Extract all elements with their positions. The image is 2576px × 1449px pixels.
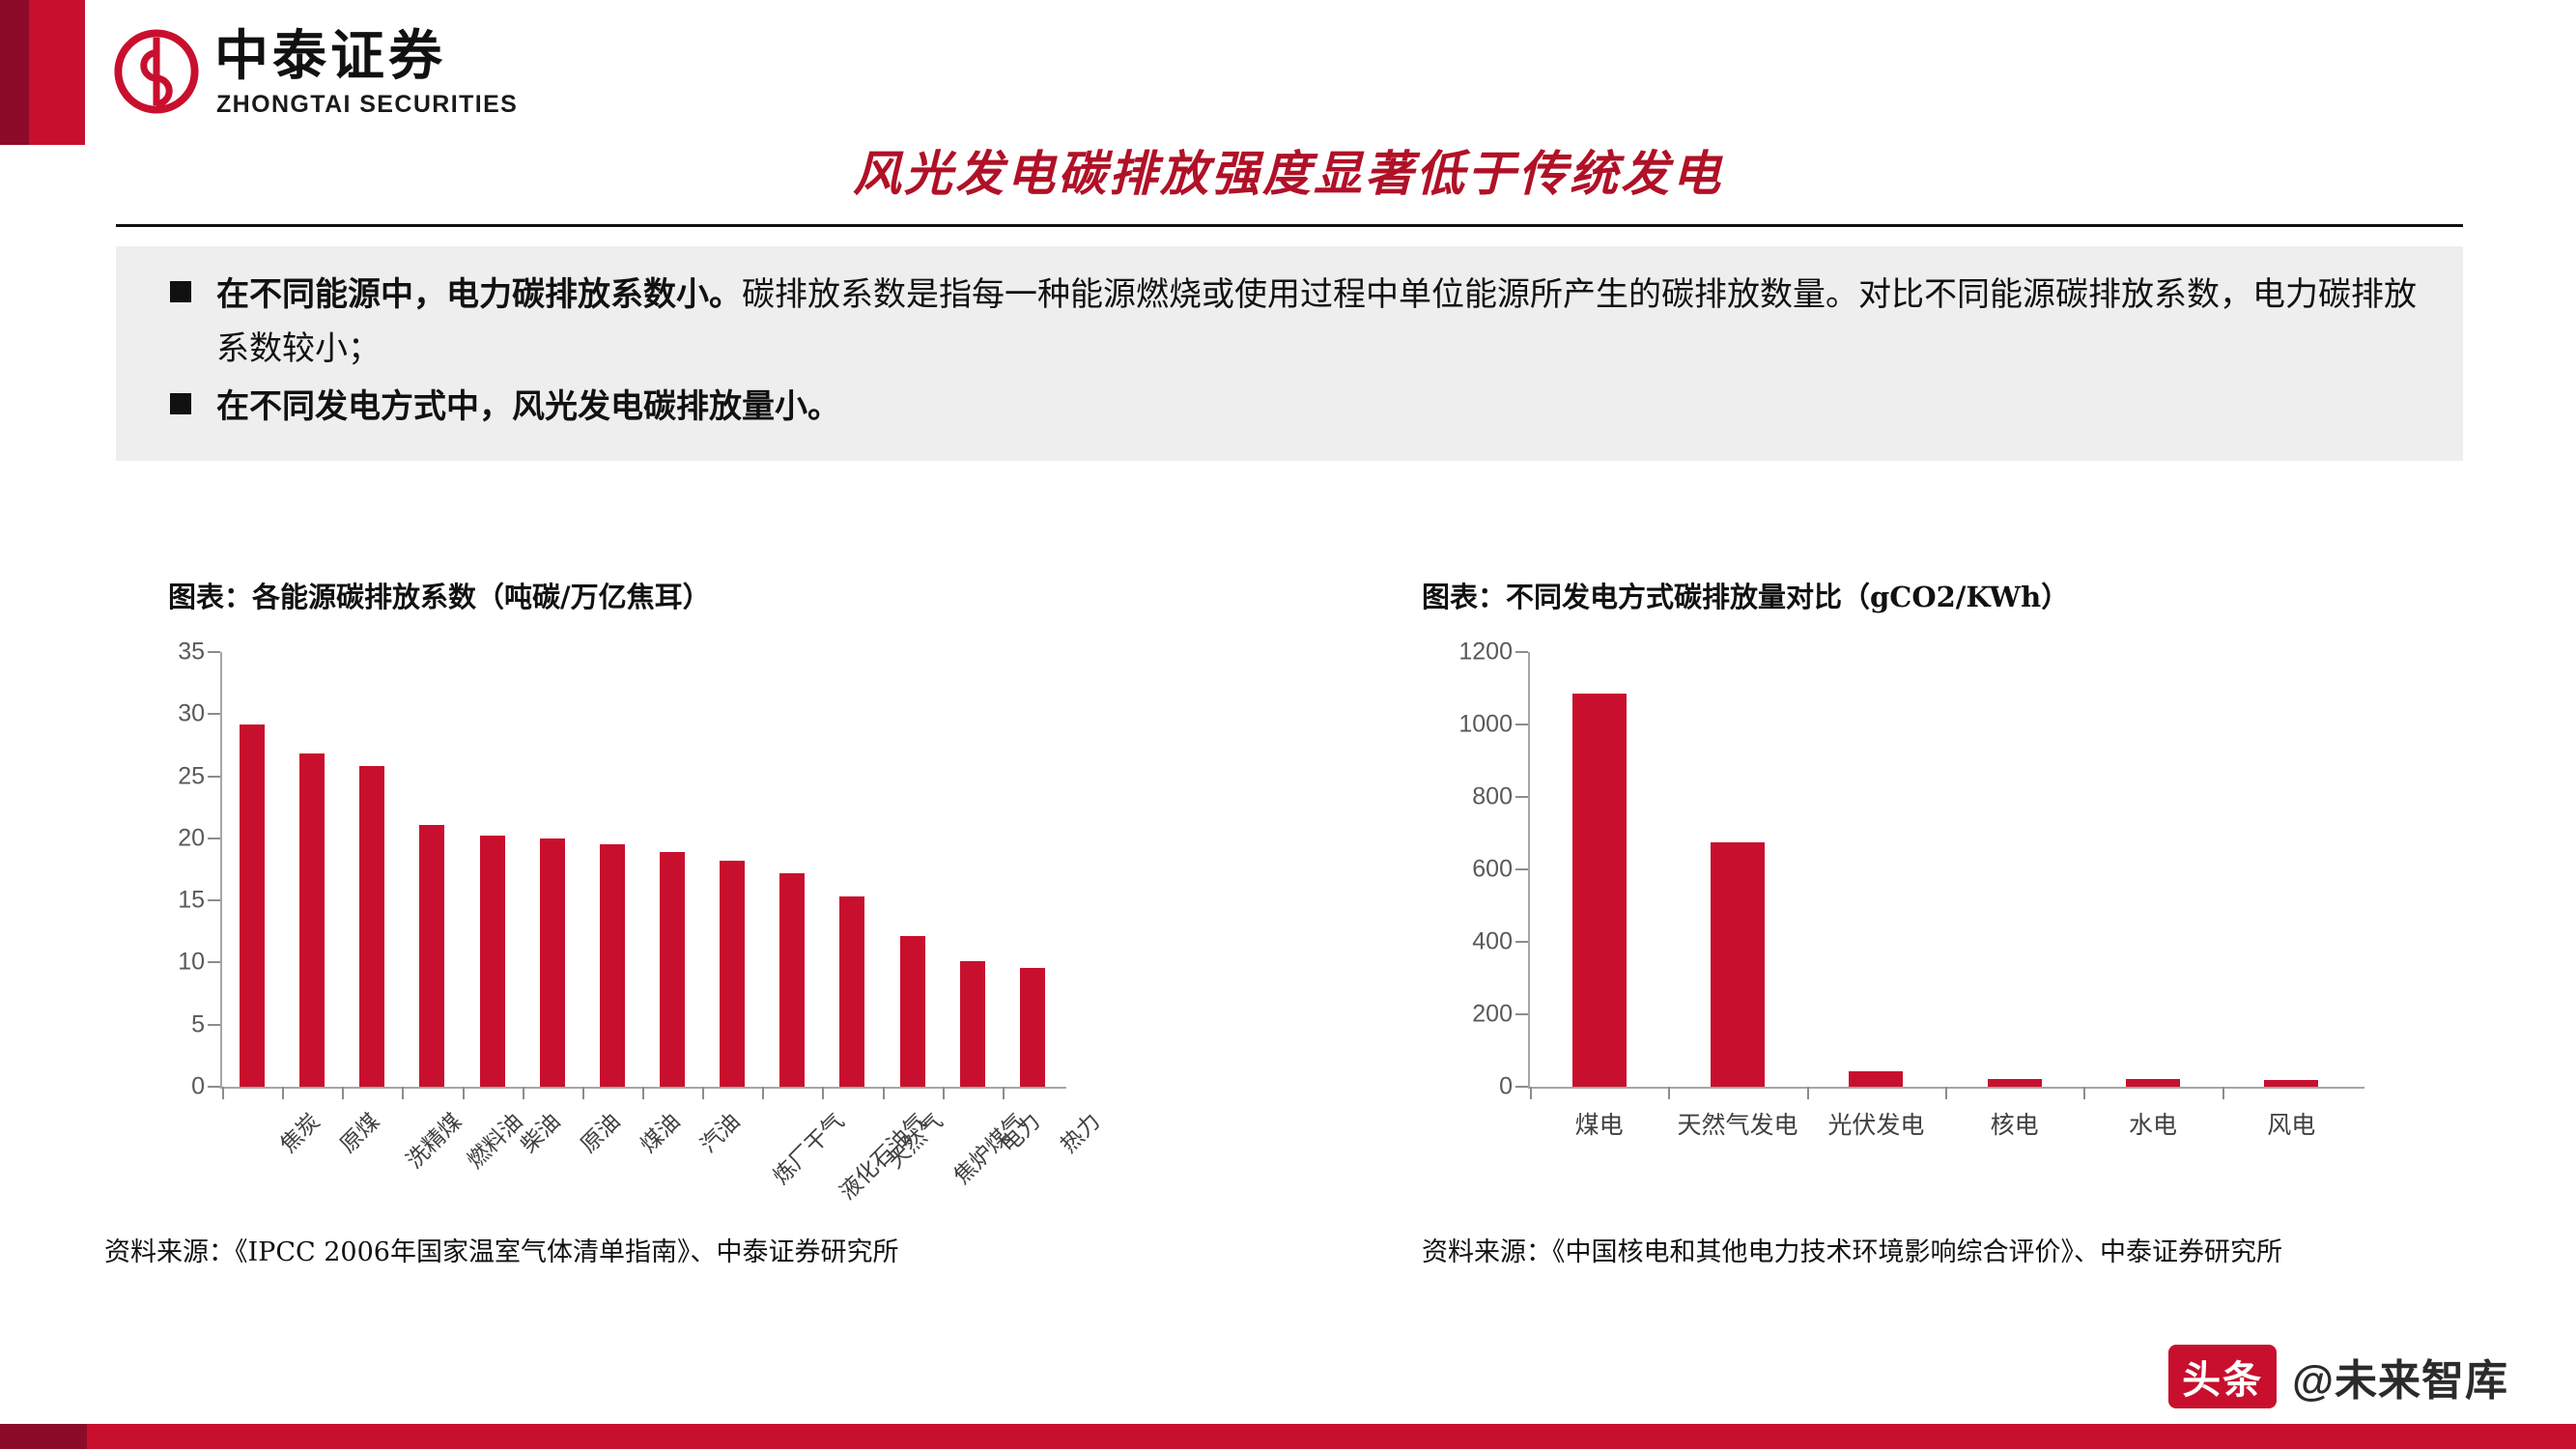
x-tick-mark [2083, 1087, 2085, 1099]
bar [1849, 1071, 1903, 1087]
x-tick-mark [1530, 1087, 1532, 1099]
y-tick-label: 30 [178, 700, 205, 728]
bar [240, 724, 265, 1087]
x-tick-label: 水电 [2083, 1106, 2222, 1154]
y-tick-mark [208, 713, 220, 715]
bar-slot [943, 652, 1003, 1087]
x-labels: 焦炭原煤洗精煤燃料油柴油原油煤油汽油炼厂干气液化石油气天然气焦炉煤气电力热力 [222, 1100, 1062, 1207]
x-tick-mark [642, 1087, 644, 1099]
x-tick-label: 柴油 [511, 1104, 566, 1159]
y-tick-mark [1515, 941, 1528, 943]
bar-slot [342, 652, 402, 1087]
chart-source: 资料来源：《IPCC 2006年国家温室气体清单指南》、中泰证券研究所 [104, 1231, 898, 1268]
y-tick-mark [1515, 1013, 1528, 1015]
x-tick-label: 光伏发电 [1807, 1106, 1945, 1154]
bar-slot [402, 652, 462, 1087]
plot-area: 020040060080010001200煤电天然气发电光伏发电核电水电风电 [1422, 652, 2576, 1193]
x-tick-mark [582, 1087, 584, 1099]
x-tick-label: 原煤 [331, 1104, 386, 1159]
company-logo: 中泰证券 ZHONGTAI SECURITIES [114, 17, 520, 124]
x-tick-mark [943, 1087, 945, 1099]
x-tick-mark [1003, 1087, 1005, 1099]
y-tick-label: 0 [191, 1073, 205, 1101]
x-tick-mark [342, 1087, 344, 1099]
y-tick-mark [208, 838, 220, 839]
y-tick-label: 1000 [1458, 711, 1513, 739]
bullet-item: 在不同能源中，电力碳排放系数小。碳排放系数是指每一种能源燃烧或使用过程中单位能源… [149, 268, 2430, 376]
bar [960, 961, 985, 1087]
footer-accent [0, 1424, 87, 1449]
bar [359, 766, 384, 1087]
x-tick-label: 汽油 [692, 1104, 747, 1159]
x-tick-label: 核电 [1945, 1106, 2083, 1154]
y-tick-mark [1515, 868, 1528, 870]
header-accent-bar-red [29, 0, 85, 145]
bar [419, 825, 444, 1087]
bullet-text: 在不同能源中，电力碳排放系数小。碳排放系数是指每一种能源燃烧或使用过程中单位能源… [216, 268, 2430, 376]
bar-slot [822, 652, 882, 1087]
chart-source: 资料来源：《中国核电和其他电力技术环境影响综合评价》、中泰证券研究所 [1422, 1231, 2282, 1268]
bullet-item: 在不同发电方式中，风光发电碳排放量小。 [149, 380, 2430, 434]
y-tick-label: 10 [178, 949, 205, 977]
y-tick-label: 15 [178, 887, 205, 915]
x-tick-mark [883, 1087, 885, 1099]
summary-panel: 在不同能源中，电力碳排放系数小。碳排放系数是指每一种能源燃烧或使用过程中单位能源… [116, 246, 2463, 461]
watermark-badge: 头条 [2168, 1345, 2277, 1408]
x-tick-label: 热力 [1051, 1104, 1106, 1159]
y-tick-mark [208, 1086, 220, 1088]
bar-slot [1807, 652, 1945, 1087]
y-tick-label: 1200 [1458, 639, 1513, 667]
bars-container [1530, 652, 2361, 1087]
page-title: 风光发电碳排放强度显著低于传统发电 [0, 135, 2576, 205]
y-axis: 020040060080010001200 [1422, 652, 1528, 1087]
y-tick-label: 20 [178, 824, 205, 852]
y-tick-mark [208, 899, 220, 901]
bar-slot [523, 652, 582, 1087]
bar [779, 873, 805, 1087]
y-tick-mark [1515, 651, 1528, 653]
x-tick-mark [702, 1087, 704, 1099]
x-labels: 煤电天然气发电光伏发电核电水电风电 [1530, 1106, 2361, 1154]
y-tick-mark [1515, 724, 1528, 725]
bar-slot [1668, 652, 1806, 1087]
chart-panel-energy-factor: 图表：各能源碳排放系数（吨碳/万亿焦耳） 05101520253035焦炭原煤洗… [114, 575, 1283, 1251]
zhongtai-logo-icon [114, 29, 199, 114]
x-tick-label: 洗精煤 [398, 1104, 468, 1175]
x-tick-label: 煤电 [1530, 1106, 1668, 1154]
x-tick-mark [2222, 1087, 2224, 1099]
logo-text-chinese: 中泰证券 [214, 25, 446, 87]
bar [660, 852, 685, 1087]
y-tick-mark [1515, 1086, 1528, 1088]
y-tick-label: 25 [178, 762, 205, 790]
bar [1572, 694, 1627, 1087]
y-tick-mark [208, 776, 220, 778]
y-tick-label: 200 [1472, 1001, 1513, 1029]
x-tick-mark [1807, 1087, 1809, 1099]
y-tick-label: 400 [1472, 928, 1513, 956]
bar-slot [2222, 652, 2361, 1087]
bullet-square-icon [170, 281, 191, 302]
y-tick-label: 0 [1499, 1073, 1513, 1101]
y-tick-mark [208, 961, 220, 963]
bullet-text: 在不同发电方式中，风光发电碳排放量小。 [216, 380, 2430, 434]
y-tick-mark [1515, 796, 1528, 798]
watermark: 头条 @未来智库 [2168, 1345, 2508, 1408]
bar [299, 753, 325, 1087]
bar-slot [1530, 652, 1668, 1087]
bar-slot [762, 652, 822, 1087]
plot-area: 05101520253035焦炭原煤洗精煤燃料油柴油原油煤油汽油炼厂干气液化石油… [114, 652, 1283, 1193]
bullet-square-icon [170, 393, 191, 414]
y-tick-label: 600 [1472, 856, 1513, 884]
bar [2126, 1079, 2180, 1087]
bar [540, 838, 565, 1087]
bar-slot [642, 652, 702, 1087]
chart-panel-power-generation: 图表：不同发电方式碳排放量对比（gCO2/KWh） 02004006008001… [1422, 575, 2576, 1251]
chart-caption: 图表：各能源碳排放系数（吨碳/万亿焦耳） [168, 575, 1283, 615]
bar-slot [702, 652, 762, 1087]
x-tick-mark [523, 1087, 524, 1099]
x-tick-mark [1668, 1087, 1670, 1099]
x-tick-label: 风电 [2222, 1106, 2361, 1154]
bar-slot [282, 652, 342, 1087]
x-tick-label: 原油 [571, 1104, 626, 1159]
y-tick-mark [208, 651, 220, 653]
title-divider [116, 224, 2463, 227]
x-tick-label: 煤油 [631, 1104, 686, 1159]
bar [480, 836, 505, 1087]
x-tick-mark [222, 1087, 224, 1099]
bar-slot [222, 652, 282, 1087]
y-tick-label: 35 [178, 639, 205, 667]
x-tick-mark [402, 1087, 404, 1099]
bar [839, 896, 864, 1087]
watermark-text: @未来智库 [2292, 1346, 2508, 1407]
y-tick-label: 5 [191, 1010, 205, 1038]
y-tick-mark [208, 1024, 220, 1026]
header-accent-bar-dark [0, 0, 29, 145]
bar [2264, 1080, 2318, 1088]
bullet-bold-text: 在不同能源中，电力碳排放系数小。 [216, 275, 742, 314]
bar [900, 936, 925, 1087]
bar [1020, 968, 1045, 1087]
x-tick-mark [822, 1087, 824, 1099]
bullet-bold-text: 在不同发电方式中，风光发电碳排放量小。 [216, 387, 840, 426]
chart-caption: 图表：不同发电方式碳排放量对比（gCO2/KWh） [1422, 575, 2576, 615]
bar [600, 844, 625, 1087]
x-tick-label: 天然气发电 [1668, 1106, 1806, 1154]
bar-slot [2083, 652, 2222, 1087]
footer-bar [0, 1424, 2576, 1449]
bar-slot [1945, 652, 2083, 1087]
y-tick-label: 800 [1472, 783, 1513, 811]
bar [720, 861, 745, 1087]
x-tick-mark [282, 1087, 284, 1099]
bar-slot [463, 652, 523, 1087]
logo-text-english: ZHONGTAI SECURITIES [216, 91, 518, 119]
bars-container [222, 652, 1062, 1087]
x-tick-label: 焦炭 [271, 1104, 326, 1159]
bar-slot [1003, 652, 1062, 1087]
bar [1711, 842, 1765, 1087]
bar-slot [883, 652, 943, 1087]
bar [1988, 1079, 2042, 1087]
x-tick-mark [1945, 1087, 1947, 1099]
x-tick-mark [762, 1087, 764, 1099]
bar-slot [582, 652, 642, 1087]
y-axis: 05101520253035 [114, 652, 220, 1087]
x-tick-mark [463, 1087, 465, 1099]
slide-header: 中泰证券 ZHONGTAI SECURITIES [0, 0, 2576, 145]
